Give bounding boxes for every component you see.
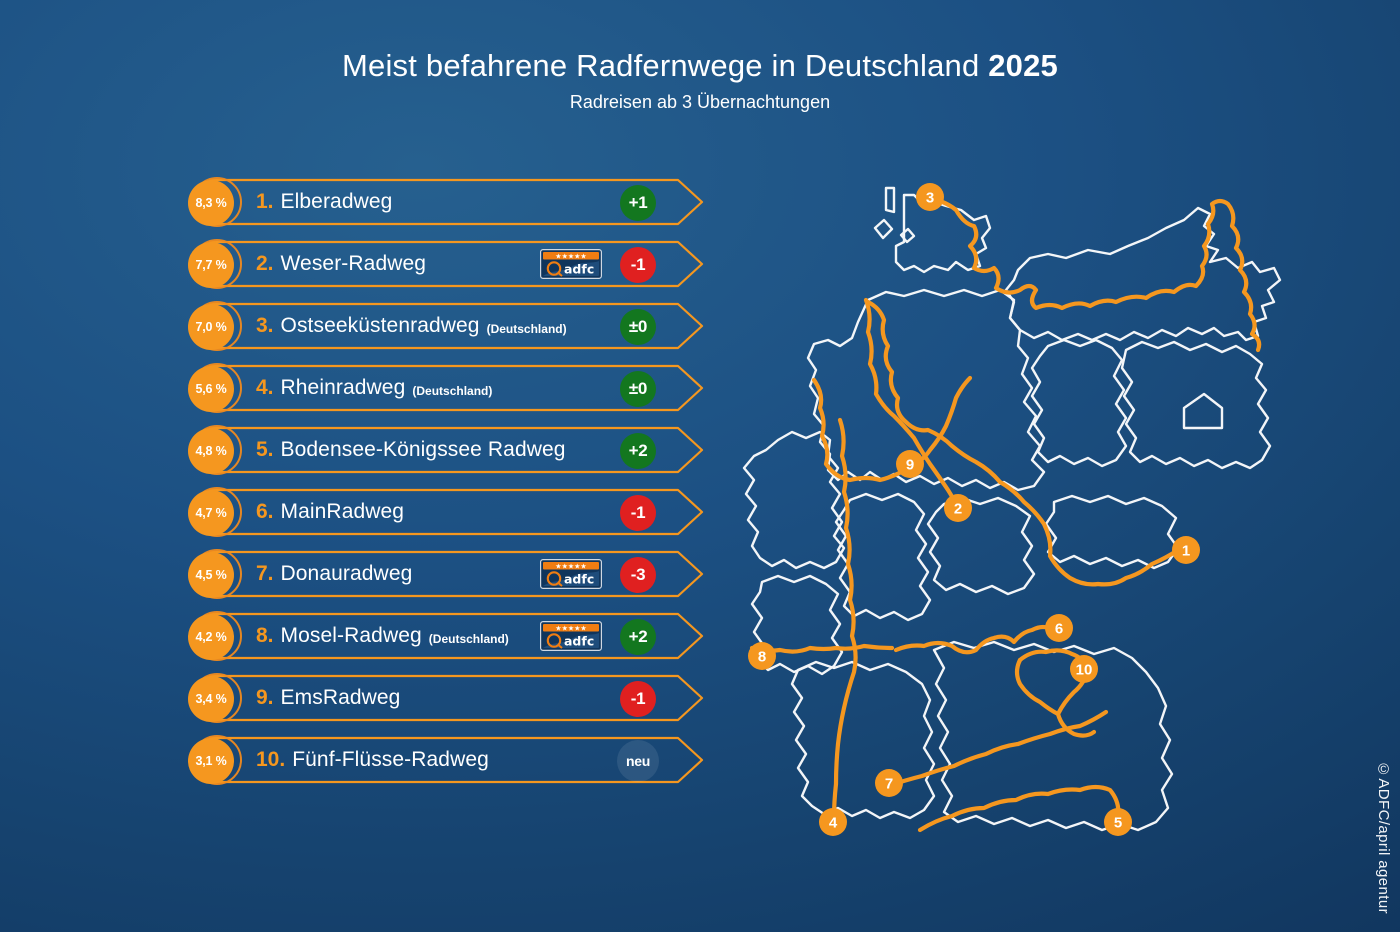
ranking-row[interactable]: 7,0 %3.Ostseeküstenradweg(Deutschland)±0 bbox=[188, 300, 708, 352]
rank-change-badge: ±0 bbox=[620, 309, 656, 345]
adfc-quality-badge-icon: ★★★★★adfc bbox=[540, 559, 602, 589]
route-rank: 8. bbox=[256, 624, 274, 648]
route-name: Fünf-Flüsse-Radweg bbox=[292, 748, 489, 772]
percentage-badge: 4,8 % bbox=[188, 426, 246, 474]
percentage-disc: 7,0 % bbox=[188, 304, 234, 350]
rank-change-badge: -1 bbox=[620, 495, 656, 531]
route-rank: 2. bbox=[256, 252, 274, 276]
route-region-suffix: (Deutschland) bbox=[487, 322, 567, 336]
percentage-badge: 7,0 % bbox=[188, 302, 246, 350]
rank-change-badge: -1 bbox=[620, 247, 656, 283]
rank-change-badge: ±0 bbox=[620, 371, 656, 407]
map-marker[interactable]: 10 bbox=[1070, 655, 1098, 683]
route-label: 10.Fünf-Flüsse-Radweg bbox=[256, 734, 489, 786]
route-name: Elberadweg bbox=[281, 190, 393, 214]
percentage-value: 3,4 % bbox=[196, 692, 227, 706]
map-marker[interactable]: 6 bbox=[1045, 614, 1073, 642]
percentage-value: 4,5 % bbox=[196, 568, 227, 582]
percentage-value: 7,7 % bbox=[196, 258, 227, 272]
route-name: Weser-Radweg bbox=[281, 252, 427, 276]
svg-text:★★★★★: ★★★★★ bbox=[555, 562, 586, 570]
percentage-value: 3,1 % bbox=[196, 754, 227, 768]
percentage-disc: 4,8 % bbox=[188, 428, 234, 474]
route-rank: 3. bbox=[256, 314, 274, 338]
map-marker-label: 9 bbox=[906, 456, 914, 473]
route-region-suffix: (Deutschland) bbox=[429, 632, 509, 646]
rank-change-badge: +2 bbox=[620, 433, 656, 469]
percentage-badge: 4,7 % bbox=[188, 488, 246, 536]
route-name: Mosel-Radweg bbox=[281, 624, 422, 648]
route-name: EmsRadweg bbox=[281, 686, 401, 710]
header: Meist befahrene Radfernwege in Deutschla… bbox=[0, 46, 1400, 116]
map-marker[interactable]: 2 bbox=[944, 494, 972, 522]
route-rank: 6. bbox=[256, 500, 274, 524]
percentage-disc: 4,5 % bbox=[188, 552, 234, 598]
percentage-disc: 4,2 % bbox=[188, 614, 234, 660]
map-marker-label: 5 bbox=[1114, 814, 1122, 831]
percentage-value: 5,6 % bbox=[196, 382, 227, 396]
route-rank: 4. bbox=[256, 376, 274, 400]
map-marker-group: 12345678910 bbox=[748, 183, 1200, 836]
copyright-credit: ©ADFC/april agentur bbox=[1375, 761, 1392, 914]
rank-change-badge: +2 bbox=[620, 619, 656, 655]
map-marker[interactable]: 4 bbox=[819, 808, 847, 836]
rank-change-badge: -3 bbox=[620, 557, 656, 593]
page-title-main: Meist befahrene Radfernwege in Deutschla… bbox=[342, 48, 988, 83]
adfc-quality-badge-icon: ★★★★★adfc bbox=[540, 621, 602, 651]
svg-text:★★★★★: ★★★★★ bbox=[555, 252, 586, 260]
infographic-canvas: Meist befahrene Radfernwege in Deutschla… bbox=[0, 0, 1400, 932]
percentage-value: 8,3 % bbox=[196, 196, 227, 210]
map-marker[interactable]: 5 bbox=[1104, 808, 1132, 836]
map-marker[interactable]: 9 bbox=[896, 450, 924, 478]
percentage-disc: 3,4 % bbox=[188, 676, 234, 722]
ranking-row[interactable]: 4,8 %5.Bodensee-Königssee Radweg+2 bbox=[188, 424, 708, 476]
ranking-row[interactable]: 3,4 %9.EmsRadweg-1 bbox=[188, 672, 708, 724]
map-marker-label: 10 bbox=[1076, 661, 1093, 678]
route-name: MainRadweg bbox=[281, 500, 405, 524]
percentage-disc: 4,7 % bbox=[188, 490, 234, 536]
rank-change-badge: neu bbox=[617, 740, 659, 782]
percentage-value: 7,0 % bbox=[196, 320, 227, 334]
route-name: Bodensee-Königssee Radweg bbox=[281, 438, 566, 462]
rank-change-badge: -1 bbox=[620, 681, 656, 717]
map-marker-label: 3 bbox=[926, 189, 934, 206]
percentage-disc: 3,1 % bbox=[188, 738, 234, 784]
route-rank: 10. bbox=[256, 748, 285, 772]
germany-map: 12345678910 bbox=[718, 150, 1298, 870]
percentage-value: 4,7 % bbox=[196, 506, 227, 520]
map-marker[interactable]: 1 bbox=[1172, 536, 1200, 564]
svg-text:adfc: adfc bbox=[564, 261, 594, 276]
percentage-badge: 4,2 % bbox=[188, 612, 246, 660]
percentage-badge: 7,7 % bbox=[188, 240, 246, 288]
map-marker-label: 2 bbox=[954, 500, 962, 517]
adfc-quality-badge-icon: ★★★★★adfc bbox=[540, 249, 602, 279]
percentage-value: 4,2 % bbox=[196, 630, 227, 644]
ranking-list: 8,3 %1.Elberadweg+17,7 %2.Weser-Radweg★★… bbox=[188, 176, 708, 796]
route-rank: 7. bbox=[256, 562, 274, 586]
ranking-row[interactable]: 7,7 %2.Weser-Radweg★★★★★adfc-1 bbox=[188, 238, 708, 290]
map-marker-label: 7 bbox=[885, 775, 893, 792]
map-marker[interactable]: 3 bbox=[916, 183, 944, 211]
map-marker[interactable]: 8 bbox=[748, 642, 776, 670]
route-label: 1.Elberadweg bbox=[256, 176, 392, 228]
svg-text:★★★★★: ★★★★★ bbox=[555, 624, 586, 632]
map-marker-label: 6 bbox=[1055, 620, 1063, 637]
page-title-year: 2025 bbox=[988, 48, 1058, 83]
percentage-disc: 8,3 % bbox=[188, 180, 234, 226]
route-label: 9.EmsRadweg bbox=[256, 672, 400, 724]
ranking-row[interactable]: 3,1 %10.Fünf-Flüsse-Radwegneu bbox=[188, 734, 708, 786]
ranking-row[interactable]: 8,3 %1.Elberadweg+1 bbox=[188, 176, 708, 228]
percentage-badge: 5,6 % bbox=[188, 364, 246, 412]
route-label: 2.Weser-Radweg bbox=[256, 238, 426, 290]
percentage-value: 4,8 % bbox=[196, 444, 227, 458]
map-marker[interactable]: 7 bbox=[875, 769, 903, 797]
rank-change-badge: +1 bbox=[620, 185, 656, 221]
percentage-badge: 3,4 % bbox=[188, 674, 246, 722]
route-label: 4.Rheinradweg(Deutschland) bbox=[256, 362, 492, 414]
map-marker-label: 4 bbox=[829, 814, 838, 831]
map-marker-label: 8 bbox=[758, 648, 766, 665]
route-name: Donauradweg bbox=[281, 562, 413, 586]
route-label: 8.Mosel-Radweg(Deutschland) bbox=[256, 610, 509, 662]
ranking-row[interactable]: 4,5 %7.Donauradweg★★★★★adfc-3 bbox=[188, 548, 708, 600]
route-rank: 5. bbox=[256, 438, 274, 462]
route-rank: 9. bbox=[256, 686, 274, 710]
ranking-row[interactable]: 4,2 %8.Mosel-Radweg(Deutschland)★★★★★adf… bbox=[188, 610, 708, 662]
route-label: 3.Ostseeküstenradweg(Deutschland) bbox=[256, 300, 567, 352]
route-name: Rheinradweg bbox=[281, 376, 406, 400]
page-subtitle: Radreisen ab 3 Übernachtungen bbox=[0, 88, 1400, 116]
route-region-suffix: (Deutschland) bbox=[412, 384, 492, 398]
ranking-row[interactable]: 4,7 %6.MainRadweg-1 bbox=[188, 486, 708, 538]
route-label: 7.Donauradweg bbox=[256, 548, 412, 600]
percentage-badge: 8,3 % bbox=[188, 178, 246, 226]
route-label: 5.Bodensee-Königssee Radweg bbox=[256, 424, 566, 476]
route-label: 6.MainRadweg bbox=[256, 486, 404, 538]
percentage-disc: 7,7 % bbox=[188, 242, 234, 288]
percentage-badge: 4,5 % bbox=[188, 550, 246, 598]
svg-text:adfc: adfc bbox=[564, 571, 594, 586]
map-marker-label: 1 bbox=[1182, 542, 1190, 559]
percentage-badge: 3,1 % bbox=[188, 736, 246, 784]
ranking-row[interactable]: 5,6 %4.Rheinradweg(Deutschland)±0 bbox=[188, 362, 708, 414]
route-rank: 1. bbox=[256, 190, 274, 214]
svg-text:adfc: adfc bbox=[564, 633, 594, 648]
map-cycle-routes bbox=[752, 198, 1259, 830]
percentage-disc: 5,6 % bbox=[188, 366, 234, 412]
route-name: Ostseeküstenradweg bbox=[281, 314, 480, 338]
page-title: Meist befahrene Radfernwege in Deutschla… bbox=[0, 46, 1400, 86]
